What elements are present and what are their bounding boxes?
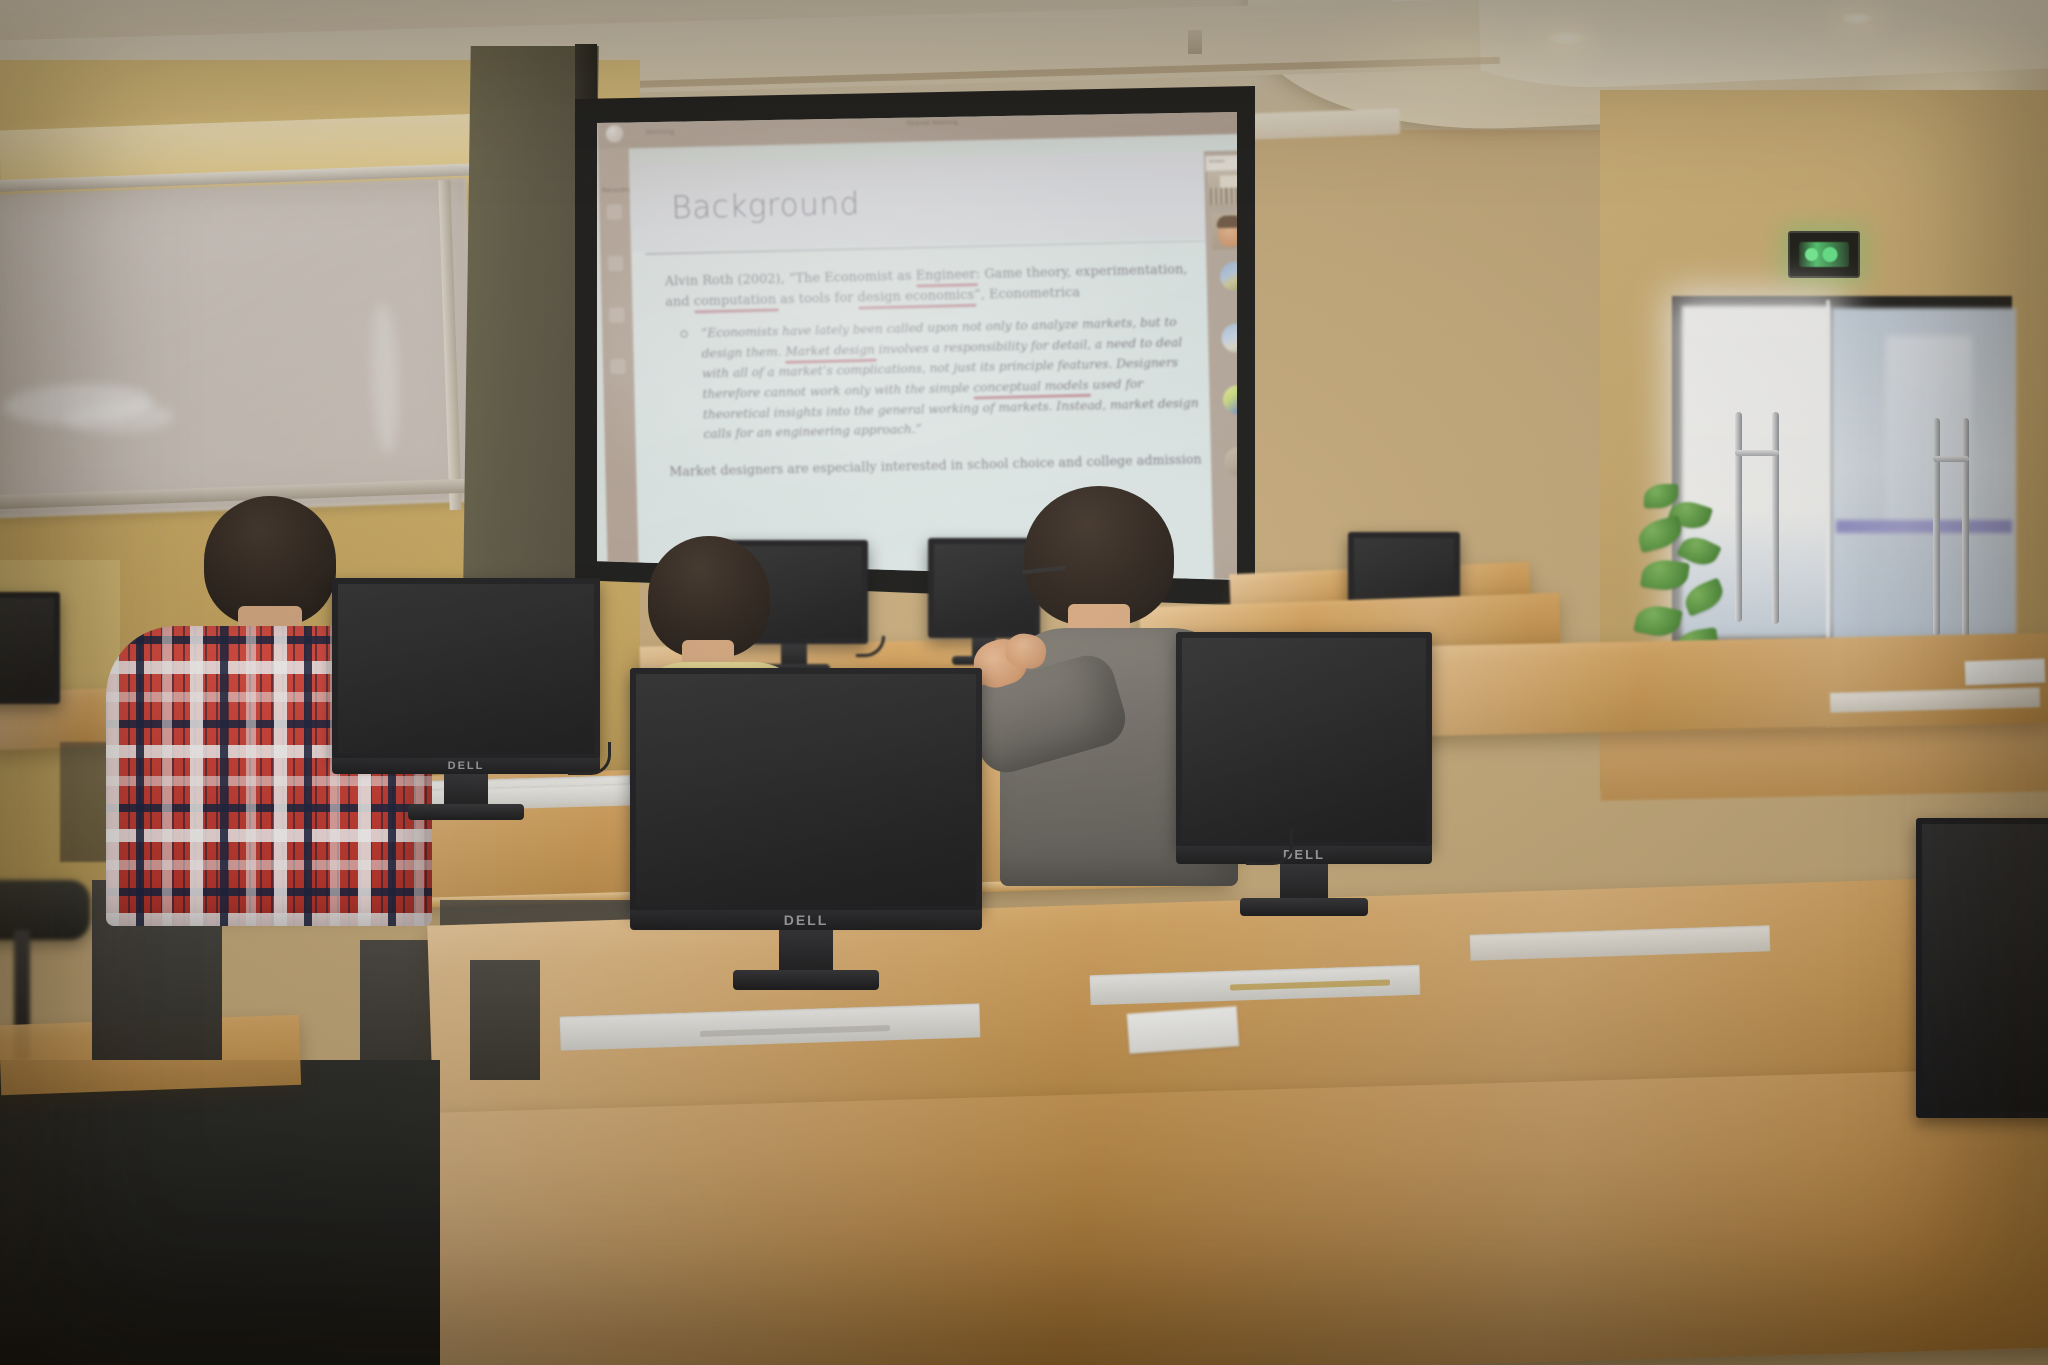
classroom-scene: Meeting Shared Meeting Recording Backgro… [0, 0, 2048, 1365]
monitor-center-front[interactable]: DELL [630, 668, 982, 912]
downlight-icon [1545, 30, 1587, 46]
door-handle-icon[interactable] [1962, 418, 1969, 638]
exit-running-man-icon [1799, 242, 1849, 267]
monitor-cable [1246, 828, 1293, 865]
rail-item-icon[interactable] [608, 256, 624, 272]
slide-citation: Alvin Roth (2002), “The Economist as Eng… [665, 259, 1201, 313]
desk-front-apron [426, 1067, 2048, 1365]
monitor-back-left[interactable] [0, 592, 60, 704]
door-handle-icon[interactable] [1772, 412, 1779, 624]
participant-avatar[interactable] [1220, 261, 1237, 291]
downlight-icon [1840, 12, 1874, 25]
dell-logo: DELL [448, 760, 485, 772]
titlebar-meeting-name: Shared Meeting [906, 119, 958, 127]
door-handle-icon[interactable] [1933, 418, 1940, 636]
monitor-right-edge[interactable] [1916, 818, 2048, 1118]
door-handle-crossbar [1933, 456, 1969, 462]
monitor-right-front[interactable]: DELL [1176, 632, 1432, 848]
monitor-front-left[interactable]: DELL [332, 578, 600, 760]
room-tile-screen [1220, 175, 1237, 188]
citation-text: Alvin Roth (2002), “The Economist as Eng… [665, 261, 1188, 309]
room-tile-people [1210, 187, 1237, 204]
slide-closing-line: Market designers are especially interest… [669, 450, 1205, 483]
door-handle-crossbar [1735, 450, 1779, 456]
desk-right-mid [1369, 633, 2048, 737]
shared-tile-label: Screen [1209, 157, 1237, 163]
floor-shadow-left [0, 1060, 440, 1365]
dell-logo: DELL [784, 912, 829, 928]
rail-label: Recording [602, 187, 632, 194]
participant-avatar[interactable] [1221, 323, 1237, 353]
rail-item-icon[interactable] [606, 204, 622, 220]
desk-far-right [1599, 721, 2048, 800]
app-logo-icon [606, 124, 624, 142]
video-face-tile[interactable] [1211, 212, 1237, 250]
participant-avatar[interactable] [1223, 385, 1237, 415]
hair-icon [1217, 215, 1237, 228]
slide-quote: “Economists have lately been called upon… [666, 312, 1204, 446]
cpu-tower-center [470, 960, 540, 1080]
corridor-far-door [1886, 336, 1972, 526]
rail-item-icon[interactable] [610, 359, 626, 375]
circle-bullet-icon [680, 331, 687, 338]
whiteboard [0, 178, 478, 519]
paper-on-desk [1965, 659, 2046, 686]
shared-screen-tile[interactable]: Screen [1205, 154, 1237, 172]
corridor-signage-strip [1836, 520, 2012, 533]
participant-avatar[interactable] [1224, 447, 1237, 477]
titlebar-breadcrumb: Meeting [646, 128, 675, 136]
quote-text: “Economists have lately been called upon… [701, 315, 1199, 441]
projector-mount [1188, 30, 1202, 54]
room-view-tile[interactable] [1207, 171, 1237, 207]
rail-item-icon[interactable] [609, 307, 625, 323]
slide-title: Background [671, 186, 860, 226]
exit-sign [1788, 231, 1860, 278]
slide-body: Alvin Roth (2002), “The Economist as Eng… [665, 259, 1205, 483]
paper-sheet [1127, 1006, 1240, 1054]
